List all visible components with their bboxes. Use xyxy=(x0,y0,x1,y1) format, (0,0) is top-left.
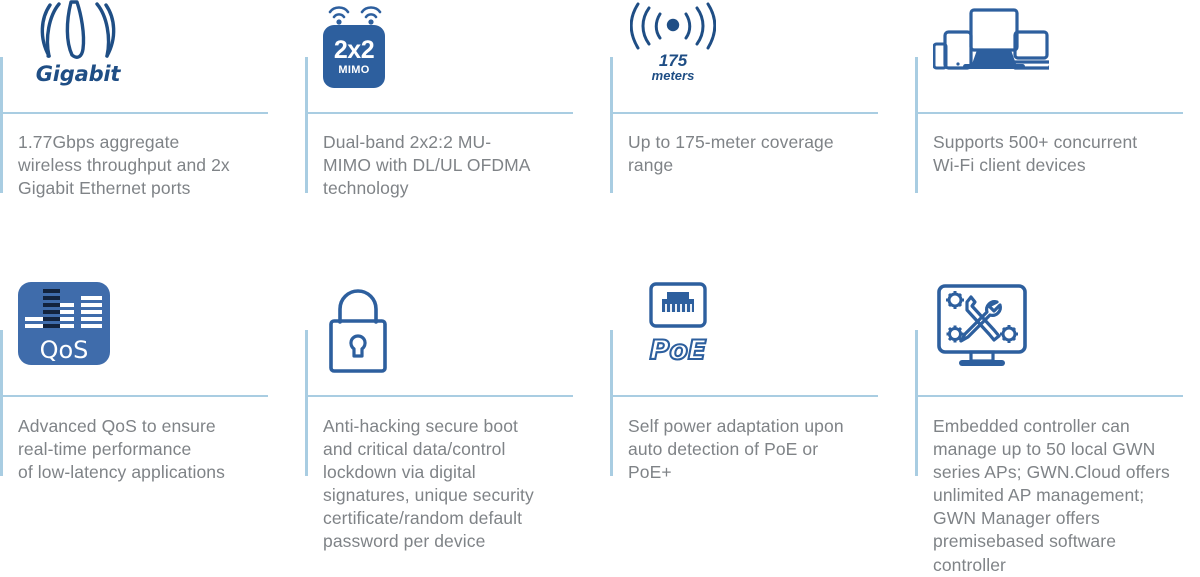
feature-text-security: Anti-hacking secure boot and critical da… xyxy=(323,415,585,554)
cell-horizontal-rule xyxy=(0,395,268,397)
cell-horizontal-rule xyxy=(305,112,573,114)
cell-horizontal-rule xyxy=(305,395,573,397)
gigabit-icon-caption: Gigabit xyxy=(36,64,121,85)
cell-vertical-rule xyxy=(305,330,308,476)
feature-cell-coverage: 175 meters Up to 175-meter coverage rang… xyxy=(610,0,895,270)
feature-text-coverage: Up to 175-meter coverage range xyxy=(628,131,890,177)
coverage-icon-sublabel: meters xyxy=(652,69,695,83)
feature-row-1: Gigabit 1.77Gbps aggregate wireless thro… xyxy=(0,0,1200,270)
equalizer-bars-icon xyxy=(25,289,103,334)
cell-horizontal-rule xyxy=(610,112,878,114)
cell-horizontal-rule xyxy=(915,395,1183,397)
qos-icon-caption: QoS xyxy=(18,338,110,362)
feature-cell-mimo: 2x2 MIMO Dual-band 2x2:2 MU- MIMO with D… xyxy=(305,0,590,270)
cell-vertical-rule xyxy=(610,330,613,476)
cell-vertical-rule xyxy=(610,57,613,193)
feature-text-qos: Advanced QoS to ensure real-time perform… xyxy=(18,415,280,484)
feature-cell-clients: Supports 500+ concurrent Wi-Fi client de… xyxy=(915,0,1200,270)
multi-device-icon xyxy=(933,0,1083,100)
poe-icon-caption: PoE xyxy=(640,333,716,367)
feature-text-mimo: Dual-band 2x2:2 MU- MIMO with DL/UL OFDM… xyxy=(323,131,585,200)
signal-broadcast-icon: 175 meters xyxy=(628,0,778,100)
qos-equalizer-icon: QoS xyxy=(18,282,168,387)
svg-text:PoE: PoE xyxy=(650,335,707,366)
feature-cell-poe: PoE Self power adaptation upon auto dete… xyxy=(610,272,895,565)
gigabit-antenna-icon: Gigabit xyxy=(18,0,168,100)
cell-horizontal-rule xyxy=(915,112,1183,114)
feature-cell-gigabit: Gigabit 1.77Gbps aggregate wireless thro… xyxy=(0,0,285,270)
feature-cell-controller: Embedded controller can manage up to 50 … xyxy=(915,272,1200,565)
feature-row-2: QoS Advanced QoS to ensure real-time per… xyxy=(0,272,1200,565)
mimo-icon-sublabel: MIMO xyxy=(338,65,369,76)
feature-text-controller: Embedded controller can manage up to 50 … xyxy=(933,415,1195,577)
ethernet-jack-icon xyxy=(649,282,707,330)
cell-vertical-rule xyxy=(305,57,308,193)
feature-text-poe: Self power adaptation upon auto detectio… xyxy=(628,415,890,484)
feature-text-gigabit: 1.77Gbps aggregate wireless throughput a… xyxy=(18,131,280,200)
feature-cell-security: Anti-hacking secure boot and critical da… xyxy=(305,272,590,565)
feature-cell-qos: QoS Advanced QoS to ensure real-time per… xyxy=(0,272,285,565)
feature-text-clients: Supports 500+ concurrent Wi-Fi client de… xyxy=(933,131,1195,177)
cell-vertical-rule xyxy=(915,330,918,476)
cell-horizontal-rule xyxy=(610,395,878,397)
cell-vertical-rule xyxy=(0,330,3,476)
mimo-icon-caption: 2x2 xyxy=(334,38,374,63)
cell-horizontal-rule xyxy=(0,112,268,114)
cell-vertical-rule xyxy=(0,57,3,193)
wifi-waves-icon xyxy=(326,0,384,28)
coverage-icon-caption: 175 xyxy=(659,52,687,69)
2x2-mimo-chip-icon: 2x2 MIMO xyxy=(323,0,473,100)
cell-vertical-rule xyxy=(915,57,918,193)
monitor-tools-gears-icon xyxy=(933,282,1083,387)
poe-ethernet-port-icon: PoE xyxy=(628,282,778,387)
padlock-icon xyxy=(323,282,473,387)
feature-grid: Gigabit 1.77Gbps aggregate wireless thro… xyxy=(0,0,1200,565)
